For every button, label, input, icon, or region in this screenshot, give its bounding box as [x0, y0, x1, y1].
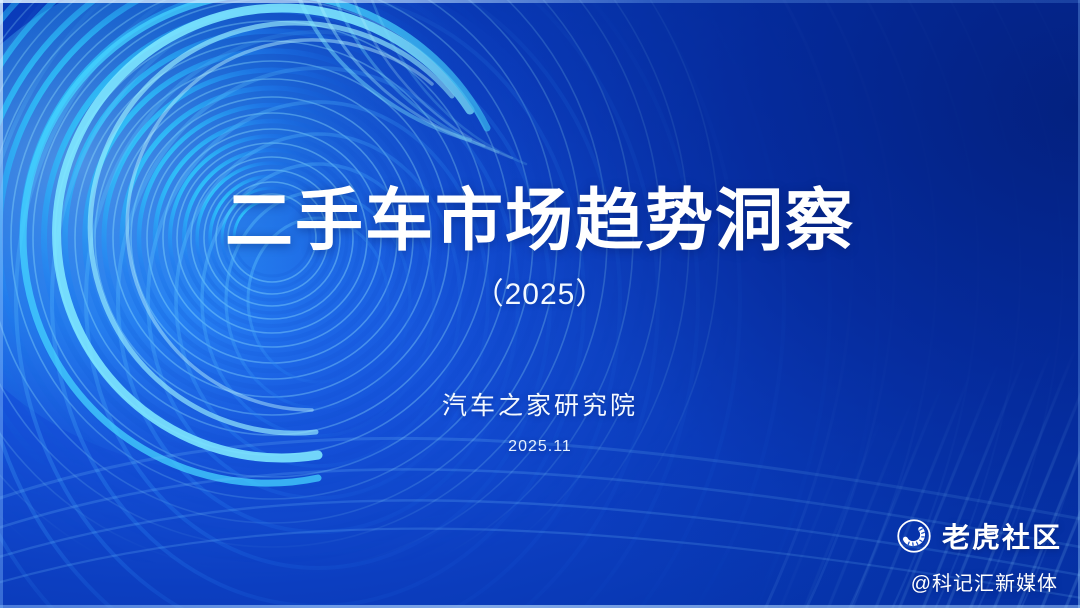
tiger-paw-circle-icon — [896, 518, 932, 554]
presentation-slide: 二手车市场趋势洞察 （2025） 汽车之家研究院 2025.11 — [0, 0, 1080, 608]
slide-content: 二手车市场趋势洞察 （2025） 汽车之家研究院 2025.11 — [0, 0, 1080, 608]
publish-date: 2025.11 — [0, 438, 1080, 456]
byline-block: 汽车之家研究院 2025.11 — [0, 386, 1080, 456]
brand-lockup[interactable]: 老虎社区 — [896, 516, 1062, 556]
organization-name: 汽车之家研究院 — [0, 386, 1080, 422]
slide-title-year: （2025） — [0, 269, 1080, 313]
brand-name: 老虎社区 — [942, 516, 1062, 556]
title-block: 二手车市场趋势洞察 （2025） — [0, 186, 1080, 313]
slide-title: 二手车市场趋势洞察 — [0, 186, 1080, 257]
watermark-text: @科记汇新媒体 — [911, 567, 1058, 596]
